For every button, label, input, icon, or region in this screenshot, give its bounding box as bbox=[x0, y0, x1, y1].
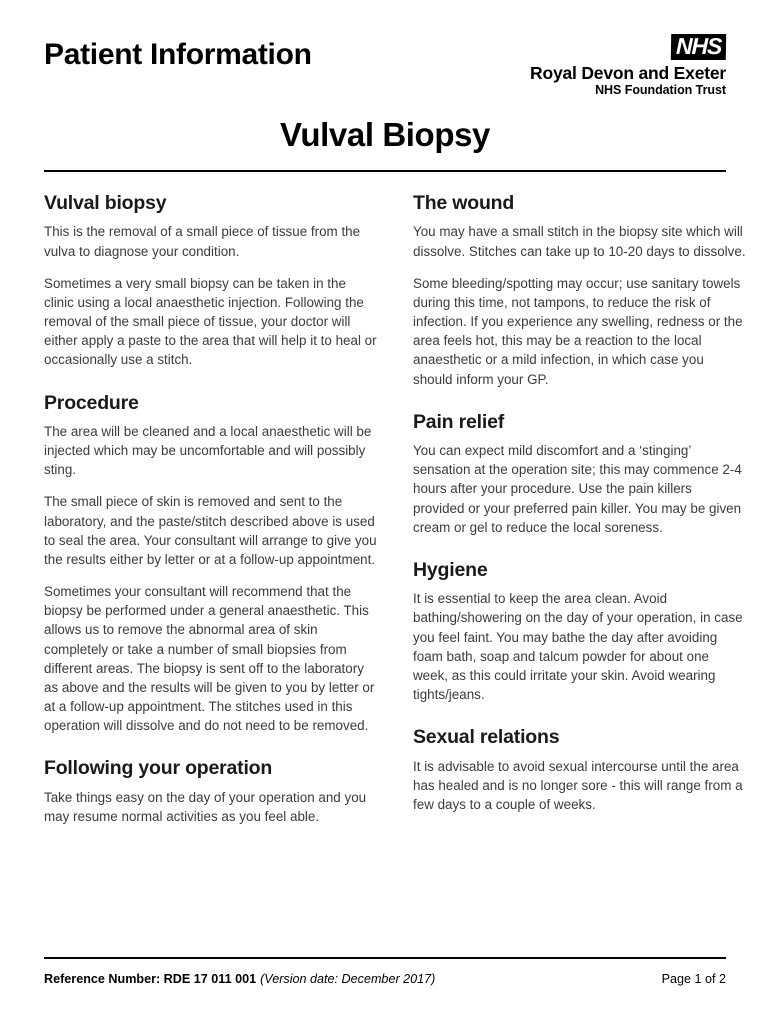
section-the-wound: The wound You may have a small stitch in… bbox=[413, 192, 746, 389]
trust-branding-block: NHS Royal Devon and Exeter NHS Foundatio… bbox=[406, 34, 726, 98]
section-heading: Following your operation bbox=[44, 757, 377, 779]
document-header: Patient Information NHS Royal Devon and … bbox=[44, 34, 726, 114]
header-divider bbox=[44, 170, 726, 172]
content-columns: Vulval biopsy This is the removal of a s… bbox=[44, 192, 728, 826]
section-paragraph: It is essential to keep the area clean. … bbox=[413, 589, 746, 704]
nhs-logo: NHS bbox=[671, 34, 727, 60]
version-date: (Version date: December 2017) bbox=[260, 972, 435, 986]
section-paragraph: You can expect mild discomfort and a ‘st… bbox=[413, 441, 746, 537]
section-heading: Pain relief bbox=[413, 411, 746, 433]
section-paragraph: It is advisable to avoid sexual intercou… bbox=[413, 757, 746, 814]
section-paragraph: Sometimes your consultant will recommend… bbox=[44, 582, 377, 735]
section-paragraph: You may have a small stitch in the biops… bbox=[413, 222, 746, 260]
section-paragraph: Sometimes a very small biopsy can be tak… bbox=[44, 274, 377, 370]
section-procedure: Procedure The area will be cleaned and a… bbox=[44, 392, 377, 736]
reference-number: Reference Number: RDE 17 011 001 bbox=[44, 972, 256, 986]
patient-information-leaflet-page: Patient Information NHS Royal Devon and … bbox=[0, 0, 770, 1024]
section-heading: Sexual relations bbox=[413, 726, 746, 748]
document-footer: Reference Number: RDE 17 011 001(Version… bbox=[44, 972, 726, 986]
trust-subtitle: NHS Foundation Trust bbox=[406, 84, 726, 97]
page-title: Vulval Biopsy bbox=[44, 118, 726, 151]
footer-divider bbox=[44, 957, 726, 959]
section-hygiene: Hygiene It is essential to keep the area… bbox=[413, 559, 746, 704]
section-heading: Vulval biopsy bbox=[44, 192, 377, 214]
section-paragraph: Some bleeding/spotting may occur; use sa… bbox=[413, 274, 746, 389]
section-heading: Procedure bbox=[44, 392, 377, 414]
trust-name: Royal Devon and Exeter bbox=[406, 64, 726, 82]
section-heading: Hygiene bbox=[413, 559, 746, 581]
section-paragraph: Take things easy on the day of your oper… bbox=[44, 788, 377, 826]
right-column: The wound You may have a small stitch in… bbox=[413, 192, 746, 826]
section-heading: The wound bbox=[413, 192, 746, 214]
section-following-your-operation: Following your operation Take things eas… bbox=[44, 757, 377, 826]
section-paragraph: The area will be cleaned and a local ana… bbox=[44, 422, 377, 479]
section-sexual-relations: Sexual relations It is advisable to avoi… bbox=[413, 726, 746, 814]
section-vulval-biopsy: Vulval biopsy This is the removal of a s… bbox=[44, 192, 377, 370]
masthead-title: Patient Information bbox=[44, 40, 312, 70]
footer-reference: Reference Number: RDE 17 011 001(Version… bbox=[44, 972, 435, 986]
section-paragraph: The small piece of skin is removed and s… bbox=[44, 492, 377, 569]
section-pain-relief: Pain relief You can expect mild discomfo… bbox=[413, 411, 746, 537]
page-number: Page 1 of 2 bbox=[662, 972, 726, 986]
left-column: Vulval biopsy This is the removal of a s… bbox=[44, 192, 377, 826]
section-paragraph: This is the removal of a small piece of … bbox=[44, 222, 377, 260]
